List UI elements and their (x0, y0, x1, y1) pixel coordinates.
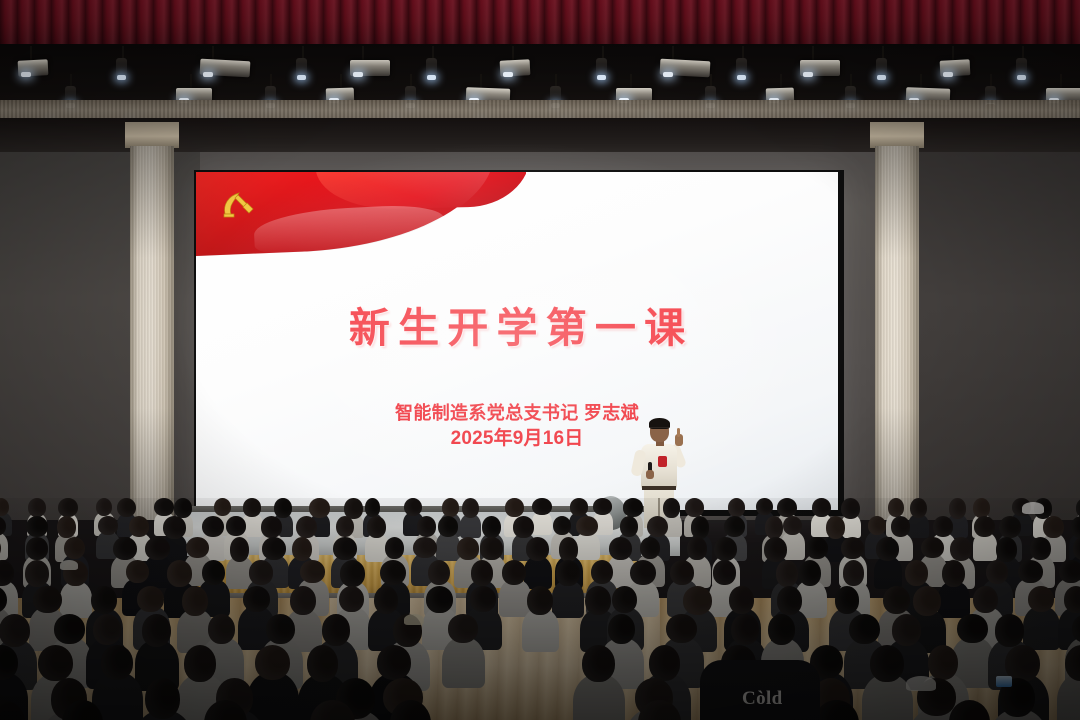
slide-subtitle-speaker: 智能制造系党总支书记 罗志斌 (196, 399, 838, 425)
audience-member-head (63, 560, 88, 586)
audience-member-head (776, 560, 799, 587)
stage-light-lens (503, 72, 513, 77)
stage-light-lens (943, 72, 953, 77)
audience-member-head (64, 537, 85, 559)
stage-spotlight (1016, 58, 1027, 77)
audience-member-torso (61, 554, 89, 587)
audience-member-head (0, 537, 1, 559)
audience-member-head (876, 537, 900, 561)
audience-shirt-text: Còld (742, 688, 783, 710)
audience-member-head (1018, 560, 1043, 583)
audience-member-torso (1027, 555, 1055, 588)
hammer-and-sickle-emblem (218, 188, 258, 222)
audience-member-head (713, 560, 736, 585)
stage-light-lens (21, 72, 31, 77)
audience-member-head (167, 560, 192, 587)
audience-member-torso (636, 554, 664, 587)
floor-reflection (330, 598, 660, 720)
audience-member-head (714, 537, 737, 561)
audience-member-torso (688, 534, 712, 563)
audience-member-head (841, 537, 864, 559)
stage-front-ribbing (197, 555, 637, 595)
audience-member-torso (998, 533, 1022, 562)
audience-member-torso (96, 531, 120, 560)
audience-member-torso (931, 533, 955, 562)
audience-member-torso (55, 533, 79, 562)
audience-member-torso (1069, 555, 1080, 588)
stage-light-lens (353, 72, 363, 77)
audience-blue-card (996, 676, 1012, 687)
audience-member-torso (947, 556, 975, 589)
light-hanger (512, 46, 514, 60)
stage-light-lens (203, 72, 213, 77)
speaker-mic-hand (646, 470, 654, 479)
audience-member-torso (762, 556, 790, 589)
audience-member-torso (111, 555, 139, 588)
audience-member-head (113, 537, 136, 560)
audience-member-torso (803, 554, 831, 587)
audience-member-head (986, 560, 1008, 584)
speaker-glasses (650, 427, 669, 432)
audience-member-torso (919, 554, 947, 587)
projection-screen: 新生开学第一课 智能制造系党总支书记 罗志斌 2025年9月16日 (196, 172, 838, 510)
audience-member-head (806, 537, 828, 559)
audience-member-torso (889, 533, 913, 562)
curtain-pleats (0, 0, 1080, 46)
projection-screen-frame: 新生开学第一课 智能制造系党总支书记 罗志斌 2025年9月16日 (194, 170, 844, 516)
stage-spotlight (596, 58, 607, 77)
speaker-luo-zhibin (628, 420, 692, 528)
audience-member-head (942, 560, 965, 587)
stage-spotlight (736, 58, 747, 77)
audience-member-head (25, 560, 49, 587)
audience-member-torso (0, 532, 8, 561)
audience-member-torso (762, 534, 786, 563)
speaker-leg-separation (658, 498, 660, 528)
stage-spotlight (426, 58, 437, 77)
audience-member-torso (1042, 533, 1066, 562)
audience-member-head (26, 537, 49, 560)
light-hanger (952, 46, 954, 60)
audience-member-head (950, 537, 972, 561)
stage-spotlight (876, 58, 887, 77)
stage-light-lens (663, 72, 673, 77)
audience-member-head (670, 560, 694, 585)
audience-member-torso (712, 556, 740, 589)
audience-member-head (799, 560, 821, 586)
slide-subtitle-date: 2025年9月16日 (196, 423, 838, 450)
speaker-shirt-logo (658, 456, 667, 467)
audience-member-head (764, 537, 787, 562)
audience-member-torso (144, 555, 172, 588)
pillar-shading-left (130, 146, 174, 520)
audience-member-torso (993, 556, 1021, 589)
cpc-party-flag-ribbon (196, 172, 526, 284)
audience-member-torso (722, 533, 746, 562)
audience-member-head (0, 560, 14, 586)
audience-member-head (996, 537, 1017, 562)
audience-member-torso (781, 531, 805, 560)
audience-member-torso (683, 555, 711, 588)
audience-member-head (145, 537, 169, 560)
audience-member-head (1059, 560, 1080, 583)
pillar-cap-right (870, 122, 924, 148)
light-hanger (30, 46, 32, 60)
pillar-cap-left (125, 122, 179, 148)
audience-member-torso (25, 532, 49, 561)
audience-member-head (921, 537, 943, 558)
audience-member-head (687, 537, 706, 560)
audience-member-torso (839, 554, 867, 587)
audience-member-head (126, 560, 149, 583)
audience-member-torso (865, 531, 889, 560)
audience-member-torso (0, 554, 4, 587)
audience-member-head (905, 560, 927, 586)
audience-member-torso (127, 533, 151, 562)
stage-light-lens (803, 72, 813, 77)
stage-spotlight (296, 58, 307, 77)
audience-member-head (843, 560, 865, 586)
speaker-belt (642, 486, 676, 490)
slide-title: 新生开学第一课 (196, 294, 838, 354)
audience-member-torso (874, 556, 902, 589)
auditorium-photo: 新生开学第一课 智能制造系党总支书记 罗志斌 2025年9月16日 Còld (0, 0, 1080, 720)
audience-cap (60, 560, 78, 570)
audience-member-head (1030, 537, 1052, 560)
pillar-shading-right (875, 146, 919, 520)
speaker-index-finger (677, 428, 680, 437)
back-wall-right-panel (905, 118, 1080, 520)
audience-member-torso (1069, 533, 1080, 562)
audience-member-head (1073, 537, 1080, 560)
stage-spotlight (116, 58, 127, 77)
audience-member-torso (973, 532, 997, 561)
audience-member-torso (23, 555, 51, 588)
audience-member-torso (824, 534, 848, 563)
